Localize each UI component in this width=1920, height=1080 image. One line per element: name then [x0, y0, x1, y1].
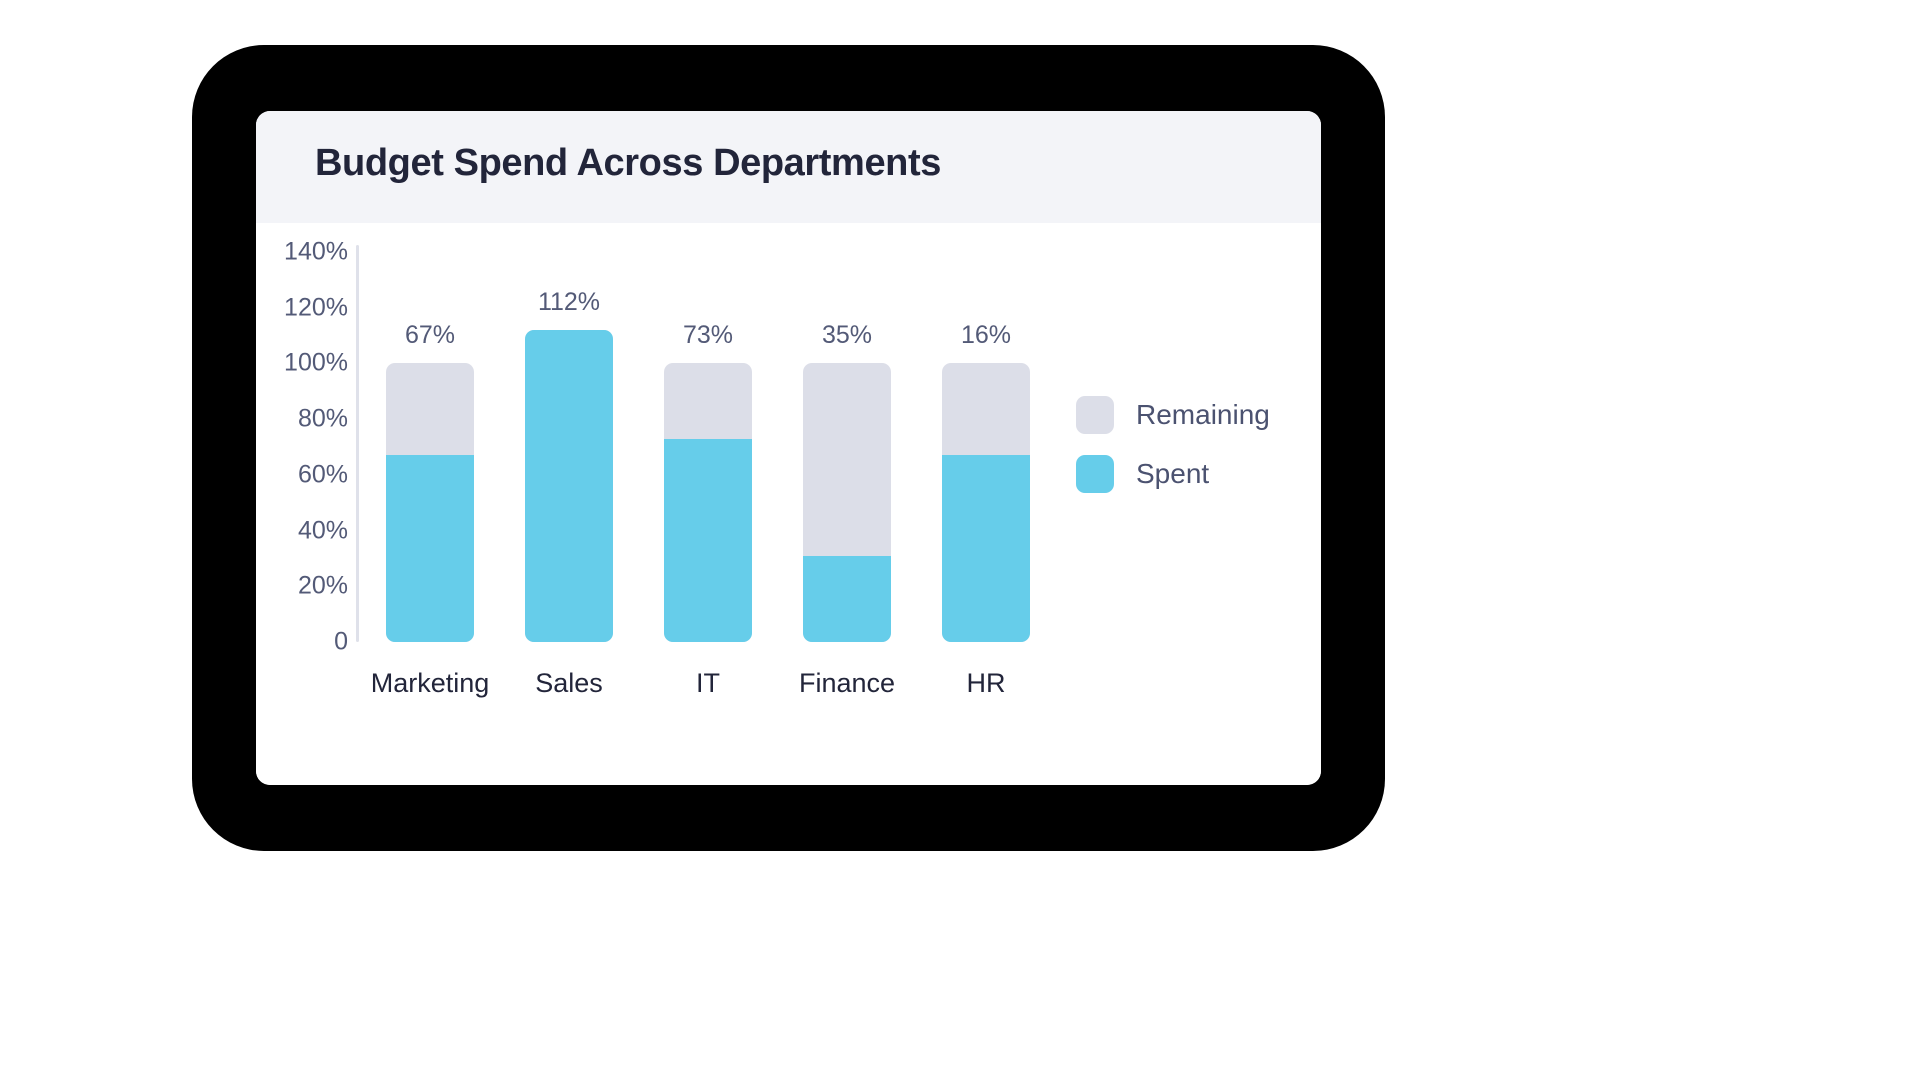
page-title: Budget Spend Across Departments — [315, 142, 941, 185]
legend-swatch-icon — [1076, 455, 1114, 493]
y-axis-tick-label: 100% — [262, 351, 348, 376]
bar-spent-segment[interactable] — [664, 439, 752, 642]
x-axis-category-label: Sales — [489, 670, 649, 697]
bar-remaining-segment[interactable] — [386, 363, 474, 642]
tablet-device-frame: Budget Spend Across Departments 140%120%… — [192, 45, 1385, 851]
legend-swatch-icon — [1076, 396, 1114, 434]
chart-card-body: 140%120%100%80%60%40%20%0 67%Marketing11… — [256, 223, 1321, 785]
y-axis-tick-label: 60% — [262, 462, 348, 487]
x-axis-category-label: HR — [906, 670, 1066, 697]
bar-spent-segment[interactable] — [386, 455, 474, 642]
y-axis-tick-label: 40% — [262, 518, 348, 543]
bar-group[interactable]: 67%Marketing — [386, 223, 474, 785]
y-axis-tick-label: 140% — [262, 240, 348, 265]
bar-value-label: 35% — [777, 323, 917, 348]
legend-item-label: Spent — [1136, 460, 1209, 488]
legend-item[interactable]: Spent — [1076, 450, 1306, 498]
bar-remaining-segment[interactable] — [803, 363, 891, 642]
bar-value-label: 67% — [360, 323, 500, 348]
bar-group[interactable]: 35%Finance — [803, 223, 891, 785]
legend-item-label: Remaining — [1136, 401, 1270, 429]
y-axis-tick-label: 80% — [262, 407, 348, 432]
y-axis-tick-label: 120% — [262, 295, 348, 320]
bar-spent-segment[interactable] — [942, 455, 1030, 642]
legend-item[interactable]: Remaining — [1076, 391, 1306, 439]
chart-legend: RemainingSpent — [1076, 391, 1306, 509]
bar-remaining-segment[interactable] — [664, 363, 752, 642]
chart-card-header: Budget Spend Across Departments — [256, 111, 1321, 223]
bar-value-label: 112% — [499, 290, 639, 315]
bar-spent-segment[interactable] — [525, 330, 613, 642]
bar-group[interactable]: 73%IT — [664, 223, 752, 785]
y-axis-tick-labels: 140%120%100%80%60%40%20%0 — [256, 223, 348, 785]
bar-group[interactable]: 16%HR — [942, 223, 1030, 785]
bar-remaining-segment[interactable] — [942, 363, 1030, 642]
y-axis-line — [356, 245, 359, 642]
bar-group[interactable]: 112%Sales — [525, 223, 613, 785]
screenshot-stage: Budget Spend Across Departments 140%120%… — [0, 0, 1920, 1080]
x-axis-category-label: IT — [628, 670, 788, 697]
bar-remaining-segment[interactable] — [525, 330, 613, 642]
bar-value-label: 73% — [638, 323, 778, 348]
tablet-screen: Budget Spend Across Departments 140%120%… — [256, 111, 1321, 785]
bar-value-label: 16% — [916, 323, 1056, 348]
x-axis-category-label: Marketing — [350, 670, 510, 697]
x-axis-category-label: Finance — [767, 670, 927, 697]
bar-spent-segment[interactable] — [803, 556, 891, 642]
bar-chart-plot-area: 140%120%100%80%60%40%20%0 67%Marketing11… — [256, 223, 1321, 785]
bar-series-container: 67%Marketing112%Sales73%IT35%Finance16%H… — [360, 223, 1060, 785]
y-axis-tick-label: 0 — [262, 630, 348, 655]
y-axis-tick-label: 20% — [262, 574, 348, 599]
